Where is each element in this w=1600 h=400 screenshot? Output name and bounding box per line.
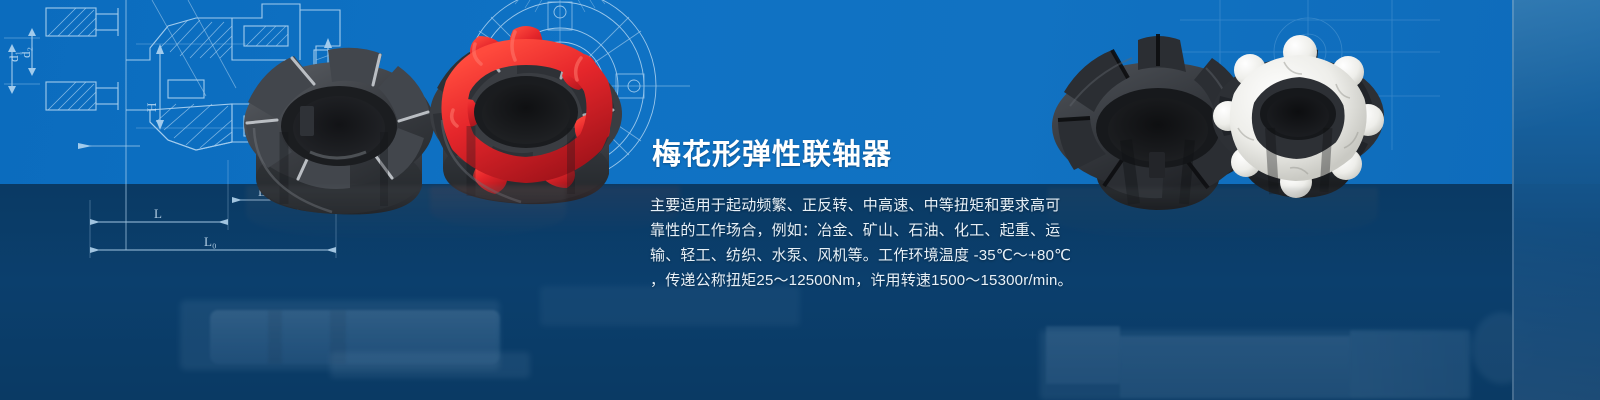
product-reflection-red xyxy=(430,186,680,234)
product-jaw-coupling-white-spider xyxy=(1208,28,1388,208)
ghost-shaft xyxy=(1350,330,1470,398)
description-line-2: 靠性的工作场合，例如：冶金、矿山、石油、化工、起重、运 xyxy=(650,218,1070,243)
right-texture-highlight xyxy=(1512,0,1600,400)
description-line-3: 输、轻工、纺织、水泵、风机等。工作环境温度 -35℃～+80℃ xyxy=(650,243,1070,268)
description-line-4: ，传递公称扭矩25～12500Nm，许用转速1500～15300r/min。 xyxy=(650,268,1070,293)
dimension-label-d2: d₂ xyxy=(18,47,33,58)
ghost-roller-band-1 xyxy=(268,310,282,364)
dimension-label-L: L xyxy=(154,206,162,221)
dimension-label-L0: L₀ xyxy=(204,234,216,249)
product-banner: L L L₀ D d₁ d₂ H xyxy=(0,0,1600,400)
ghost-roller-shelf xyxy=(330,352,530,378)
ghost-motor-body xyxy=(1120,336,1350,398)
ghost-motor-flange xyxy=(1046,326,1120,384)
page-title: 梅花形弹性联轴器 xyxy=(652,140,892,171)
description-line-1: 主要适用于起动频繁、正反转、中高速、中等扭矩和要求高可 xyxy=(650,193,1070,218)
product-description: 主要适用于起动频繁、正反转、中高速、中等扭矩和要求高可 靠性的工作场合，例如：冶… xyxy=(650,193,1070,293)
product-reflection-right xyxy=(1048,188,1378,242)
right-panel-edge xyxy=(1512,0,1514,400)
dimension-label-H: H xyxy=(144,103,159,112)
product-jaw-coupling-red-spider xyxy=(405,18,705,213)
